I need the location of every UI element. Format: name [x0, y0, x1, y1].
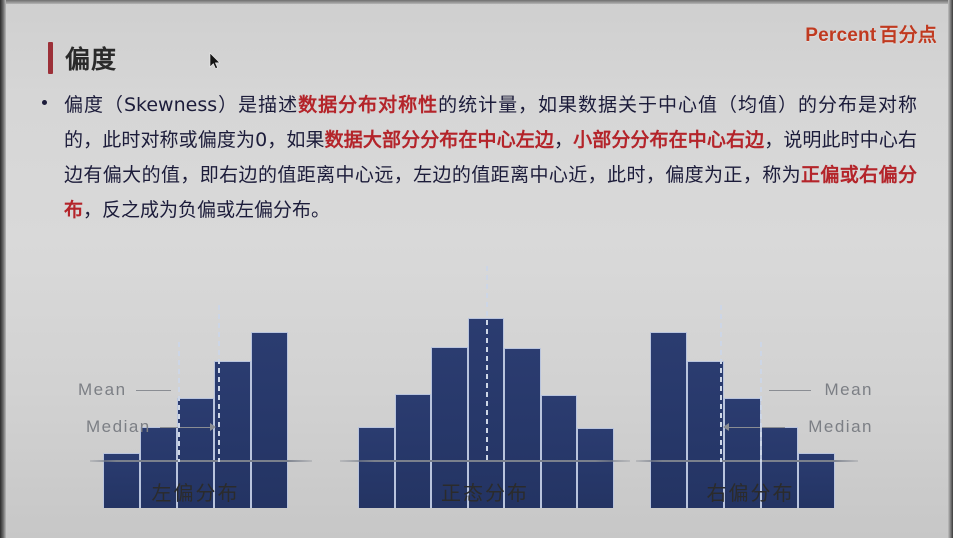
brand-logo: Percent百分点: [805, 20, 937, 47]
bullet-dot: [42, 100, 47, 105]
mouse-cursor-icon: [209, 52, 221, 70]
page-title: 偏度: [48, 40, 117, 76]
page-title-text: 偏度: [65, 40, 117, 76]
chart-axis-line: [90, 460, 312, 462]
annotation-median-label: Median: [808, 417, 873, 437]
body-paragraph: 偏度（Skewness）是描述数据分布对称性的统计量，如果数据关于中心值（均值）…: [42, 88, 917, 228]
chart-normal: 正态分布: [340, 258, 630, 508]
annotation-leader-line: [136, 390, 171, 391]
para-highlight-2: 数据大部分分布在中心左边: [325, 129, 554, 151]
annotation-leader-line: [769, 390, 811, 391]
chart-caption: 右偏分布: [628, 477, 873, 506]
dashed-line-mean: [760, 342, 762, 462]
title-accent-bar: [48, 42, 53, 74]
chart-caption: 左偏分布: [78, 477, 313, 506]
video-edge-top: [0, 0, 953, 4]
brand-logo-cn: 百分点: [879, 25, 937, 46]
body-paragraph-text: 偏度（Skewness）是描述数据分布对称性的统计量，如果数据关于中心值（均值）…: [42, 88, 917, 228]
chart-axis-line: [636, 460, 858, 462]
slide: Percent百分点 偏度 偏度（Skewness）是描述数据分布对称性的统计量…: [0, 0, 953, 538]
charts-row: Median Mean 左偏分布 正态分布 Median Mean 右偏分布: [0, 258, 953, 508]
dashed-line-median: [720, 305, 722, 462]
dashed-line-mean: [178, 342, 180, 462]
dashed-line-center: [486, 266, 488, 462]
annotation-median-label: Median: [86, 417, 151, 437]
para-highlight-3: 小部分分布在中心右边: [573, 129, 764, 151]
annotation-mean-label: Mean: [78, 380, 127, 400]
para-segment-1: 偏度（Skewness）是描述: [64, 94, 298, 116]
annotation-leader-line: [160, 427, 211, 428]
para-segment-5: ，反之成为负偏或左偏分布。: [83, 199, 330, 221]
chart-caption: 正态分布: [340, 477, 630, 506]
annotation-leader-line: [729, 427, 785, 428]
brand-logo-en: Percent: [805, 25, 876, 46]
para-highlight-1: 数据分布对称性: [298, 94, 438, 116]
chart-left-skewed: Median Mean 左偏分布: [78, 258, 313, 508]
para-segment-3: ，: [554, 129, 573, 151]
chart-right-skewed: Median Mean 右偏分布: [628, 258, 873, 508]
annotation-mean-label: Mean: [824, 380, 873, 400]
dashed-line-median: [218, 305, 220, 462]
